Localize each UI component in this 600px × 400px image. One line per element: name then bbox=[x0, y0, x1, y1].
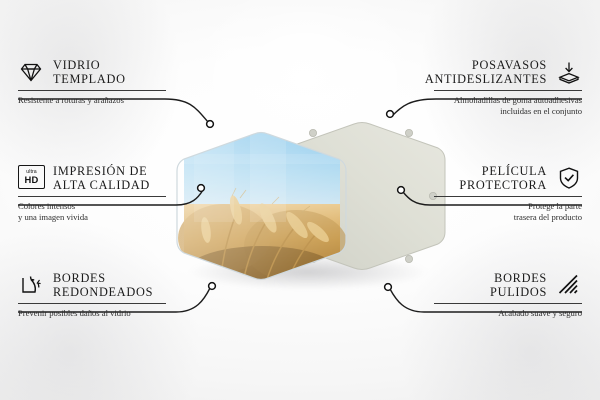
feature-high-quality-print: ultra HD IMPRESIÓN DEALTA CALIDAD Colore… bbox=[18, 164, 166, 223]
feature-rounded-edges: BORDESREDONDEADOS Prevenir posibles daño… bbox=[18, 271, 166, 319]
feature-title: BORDESPULIDOS bbox=[490, 271, 547, 299]
infographic-canvas: VIDRIOTEMPLADO Resistente a roturas y ar… bbox=[0, 0, 600, 400]
feature-subtitle: Protege la partetrasera del producto bbox=[434, 201, 582, 223]
feature-non-slip-coasters: POSAVASOSANTIDESLIZANTES Almohadillas de… bbox=[434, 58, 582, 117]
feature-subtitle: Prevenir posibles daños al vidrio bbox=[18, 308, 166, 319]
feature-divider bbox=[434, 196, 582, 197]
feature-title: IMPRESIÓN DEALTA CALIDAD bbox=[53, 164, 150, 192]
feature-divider bbox=[18, 196, 166, 197]
feature-title: VIDRIOTEMPLADO bbox=[53, 58, 126, 86]
feature-polished-edges: BORDESPULIDOS Acabado suave y seguro bbox=[434, 271, 582, 319]
feature-subtitle: Almohadillas de goma autoadhesivasinclui… bbox=[434, 95, 582, 117]
feature-subtitle: Resistente a roturas y arañazos bbox=[18, 95, 166, 106]
feature-subtitle: Acabado suave y seguro bbox=[434, 308, 582, 319]
feature-tempered-glass: VIDRIOTEMPLADO Resistente a roturas y ar… bbox=[18, 58, 166, 106]
diagonal-lines-icon bbox=[556, 272, 582, 298]
feature-title: BORDESREDONDEADOS bbox=[53, 271, 153, 299]
feature-divider bbox=[18, 303, 166, 304]
feature-divider bbox=[18, 90, 166, 91]
feature-title: POSAVASOSANTIDESLIZANTES bbox=[425, 58, 547, 86]
feature-subtitle: Colores intensosy una imagen vivida bbox=[18, 201, 166, 223]
feature-title: PELÍCULAPROTECTORA bbox=[459, 164, 547, 192]
feature-divider bbox=[434, 90, 582, 91]
ultra-hd-badge-icon: ultra HD bbox=[18, 165, 44, 191]
feature-divider bbox=[434, 303, 582, 304]
coaster-printed-front bbox=[184, 118, 340, 294]
press-down-pad-icon bbox=[556, 59, 582, 85]
feature-protective-film: PELÍCULAPROTECTORA Protege la partetrase… bbox=[434, 164, 582, 223]
product-illustration bbox=[176, 104, 436, 289]
shield-check-icon bbox=[556, 165, 582, 191]
rounded-corner-icon bbox=[18, 272, 44, 298]
diamond-icon bbox=[18, 59, 44, 85]
